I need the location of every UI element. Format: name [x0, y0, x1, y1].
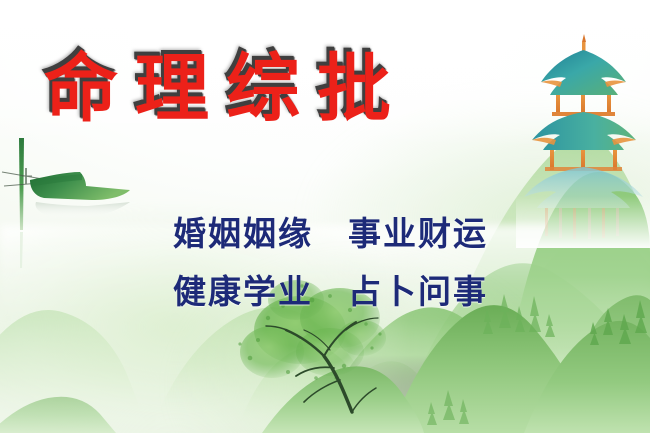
subtitle-line-1: 婚姻姻缘 事业财运: [173, 207, 488, 255]
subtitle-line-2: 健康学业 占卜问事: [173, 265, 488, 313]
page-title: 命理综批: [44, 52, 408, 126]
fortune-telling-banner: 命理综批 婚姻姻缘 事业财运 健康学业 占卜问事: [0, 0, 650, 433]
